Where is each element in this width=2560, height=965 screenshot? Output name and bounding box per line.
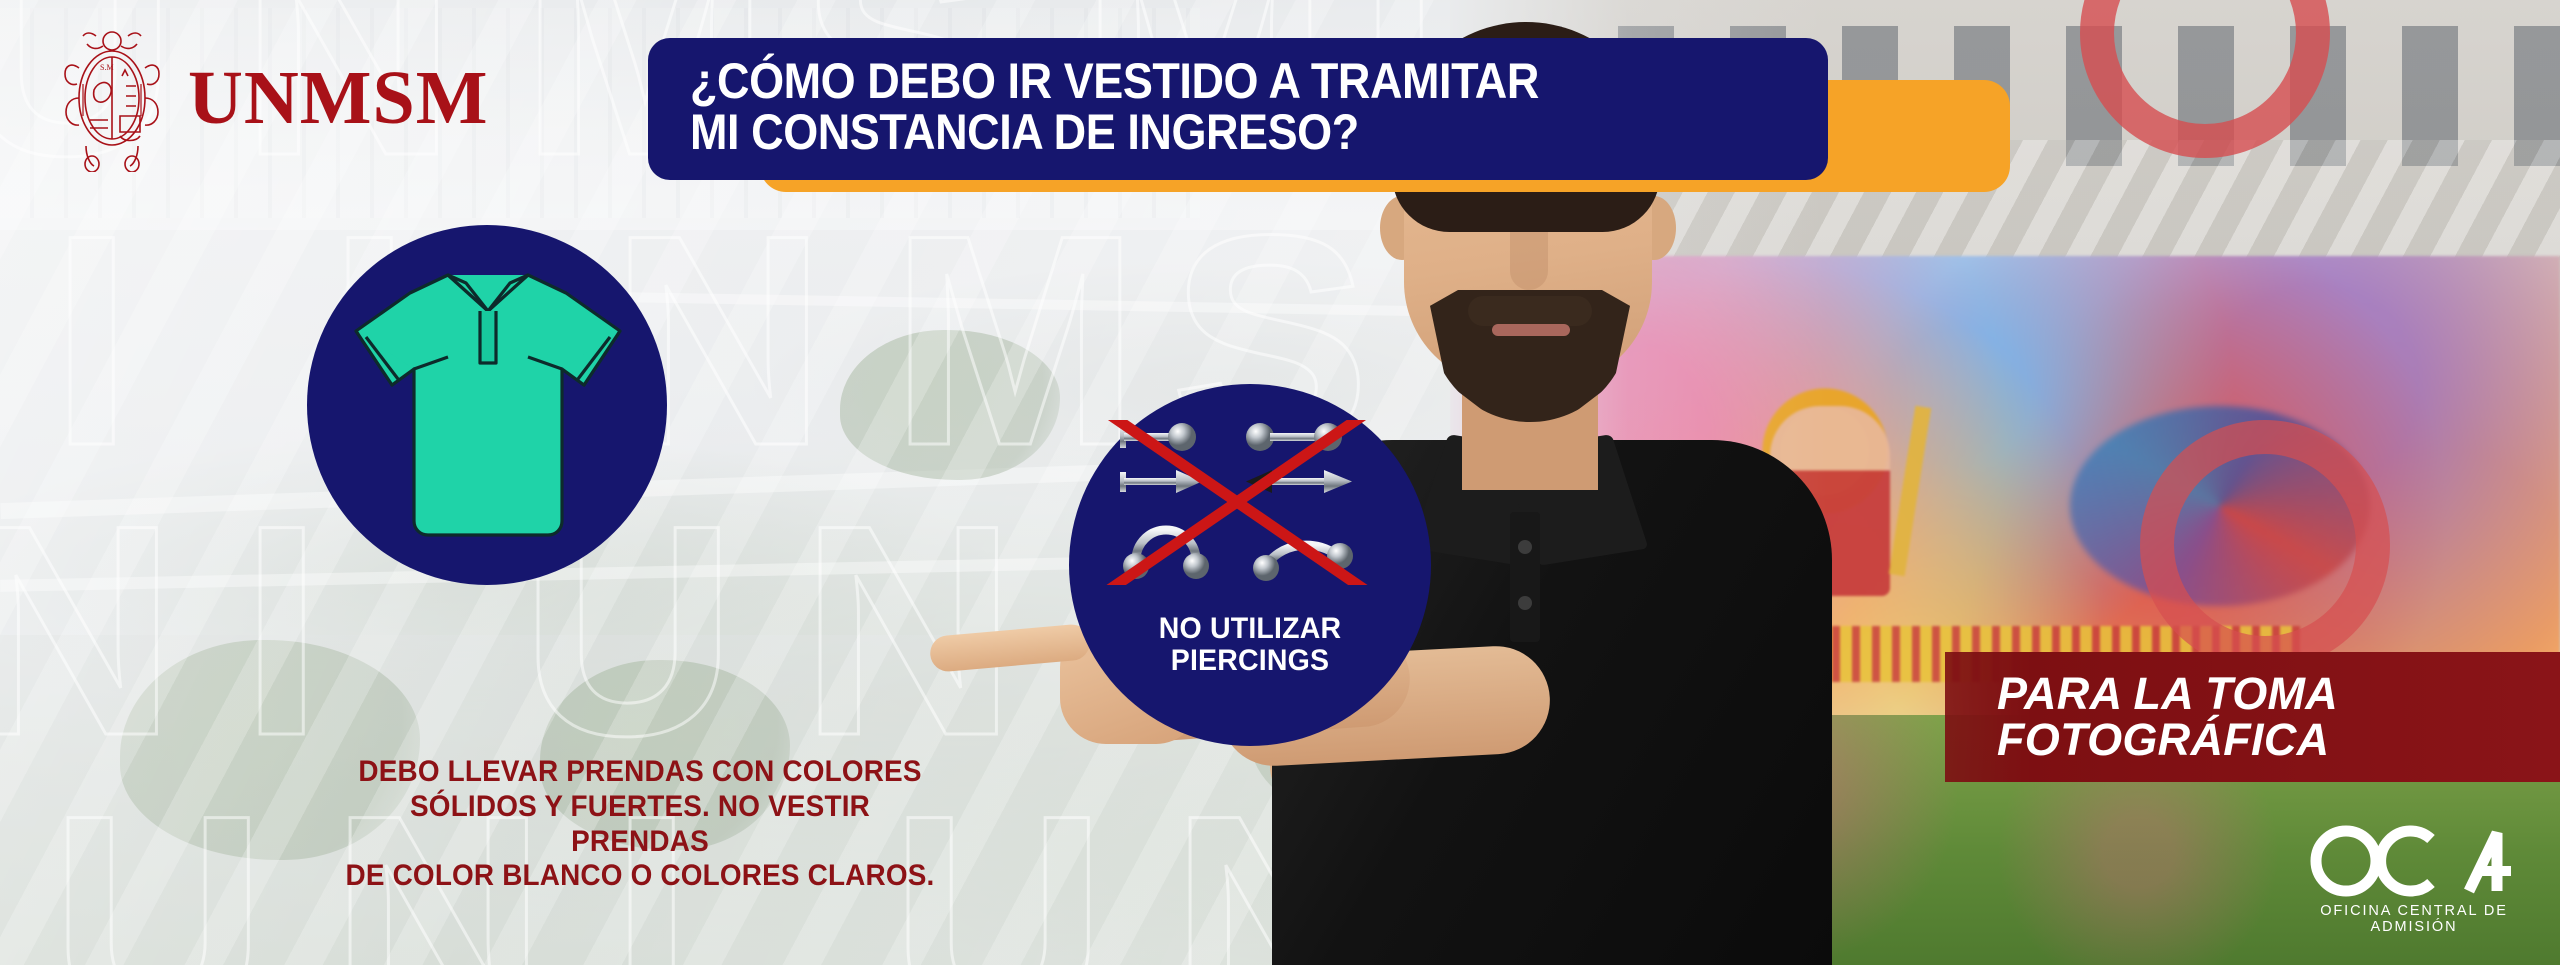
photo-banner-line-1: PARA LA TOMA: [1997, 671, 2560, 717]
piercings-label-line-1: NO UTILIZAR: [1078, 613, 1422, 645]
presenter-placket: [1510, 512, 1540, 642]
oca-subtitle: OFICINA CENTRAL DE ADMISIÓN: [2296, 903, 2532, 935]
no-piercings-icon: [1100, 420, 1400, 585]
unmsm-crest-icon: S.M: [56, 24, 168, 172]
presenter-shirt-button: [1518, 596, 1532, 610]
oca-logo-icon: [2301, 822, 2527, 900]
presenter-mouth: [1492, 324, 1570, 336]
unmsm-logo: S.M UNMSM: [56, 24, 489, 172]
title-line-2: MI CONSTANCIA DE INGRESO?: [690, 107, 1678, 158]
piercings-badge-label: NO UTILIZAR PIERCINGS: [1078, 613, 1422, 678]
photo-session-banner: PARA LA TOMA FOTOGRÁFICA: [1945, 652, 2560, 782]
oca-logo: OFICINA CENTRAL DE ADMISIÓN: [2296, 822, 2532, 935]
svg-text:S.M: S.M: [100, 63, 114, 72]
presenter-nose: [1510, 232, 1548, 290]
caption-line-1: DEBO LLEVAR PRENDAS CON COLORES: [342, 755, 937, 790]
caption-line-3: DE COLOR BLANCO O COLORES CLAROS.: [342, 859, 937, 894]
presenter-moustache: [1468, 296, 1592, 326]
admission-banner: UNMSMUNIUNMSMUNIUNMSMUNIUNMS: [0, 0, 2560, 965]
piercings-label-line-2: PIERCINGS: [1078, 645, 1422, 677]
caption-line-2: SÓLIDOS Y FUERTES. NO VESTIR PRENDAS: [342, 790, 937, 860]
polo-shirt-icon: [340, 253, 636, 553]
dress-code-caption: DEBO LLEVAR PRENDAS CON COLORES SÓLIDOS …: [342, 755, 937, 894]
title-banner: ¿CÓMO DEBO IR VESTIDO A TRAMITAR MI CONS…: [648, 38, 1828, 180]
title-line-1: ¿CÓMO DEBO IR VESTIDO A TRAMITAR: [690, 56, 1678, 107]
unmsm-wordmark: UNMSM: [188, 60, 489, 136]
photo-banner-line-2: FOTOGRÁFICA: [1997, 717, 2560, 763]
presenter-shirt-button: [1518, 540, 1532, 554]
